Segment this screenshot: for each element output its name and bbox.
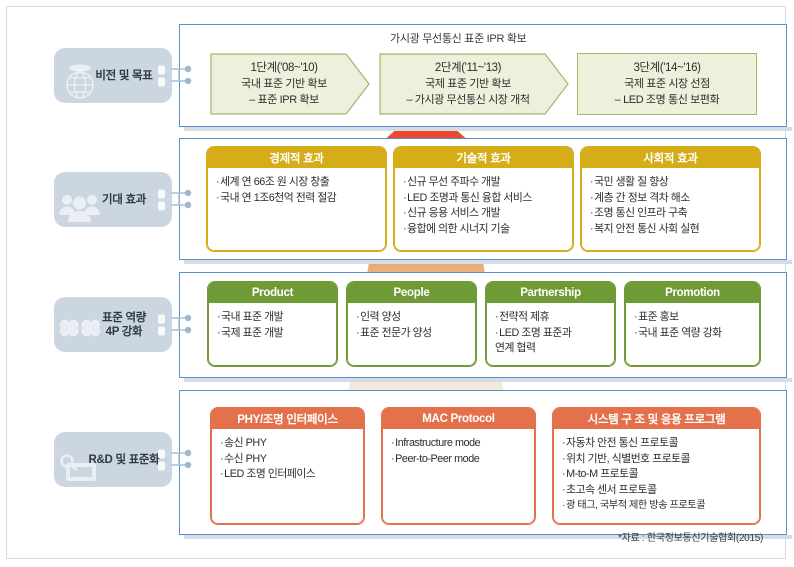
connector-3 (171, 313, 193, 337)
stage-2-line-1: 국제 표준 기반 확보 (425, 76, 511, 92)
card-system-architecture[interactable]: 시스템 구 조 및 응용 프로그램 ·자동차 안전 통신 프로토콜 ·위치 기반… (552, 407, 761, 525)
card-body-technical: ·신규 무선 주파수 개발 ·LED 조명과 통신 융합 서비스 ·신규 응용 … (394, 168, 573, 251)
list-item: ·표준 전문가 양성 (356, 326, 467, 342)
stage-3-title: 3단계('14~'16) (633, 60, 700, 76)
card-economic-effect[interactable]: 경제적 효과 ·세계 연 66조 원 시장 창출 ·국내 연 1조6천억 전력 … (206, 146, 387, 252)
rail-connector-squares-1 (158, 62, 165, 89)
clover-icon (58, 306, 102, 350)
list-item: ·표준 홍보 (634, 310, 751, 326)
connector-4 (171, 448, 193, 472)
card-head-product: Product (208, 282, 337, 303)
list-item: ·국제 표준 개발 (217, 326, 328, 342)
connector-2 (171, 188, 193, 212)
list-item: ·인력 양성 (356, 310, 467, 326)
card-head-system: 시스템 구 조 및 응용 프로그램 (553, 408, 760, 429)
people-group-icon (58, 181, 102, 225)
card-body-partnership: ·전략적 제휴 ·LED 조명 표준과 연계 협력 (486, 303, 615, 366)
panel-shadow-2 (184, 260, 792, 264)
card-partnership[interactable]: Partnership ·전략적 제휴 ·LED 조명 표준과 연계 협력 (485, 281, 616, 367)
research-monitor-icon (58, 441, 102, 485)
source-footnote: *자료 : 한국정보통신기술협회(2015) (618, 529, 763, 544)
card-body-promotion: ·표준 홍보 ·국내 표준 역량 강화 (625, 303, 760, 366)
card-head-partnership: Partnership (486, 282, 615, 303)
card-social-effect[interactable]: 사회적 효과 ·국민 생활 질 향상 ·계층 간 정보 격차 해소 ·조명 통신… (580, 146, 761, 252)
card-people[interactable]: People ·인력 양성 ·표준 전문가 양성 (346, 281, 477, 367)
stage-2-line-2: – 가시광 무선통신 시장 개척 (406, 92, 529, 108)
list-item: ·신규 무선 주파수 개발 (403, 175, 564, 191)
card-body-system: ·자동차 안전 통신 프로토콜 ·위치 기반, 식별번호 프로토콜 ·M-to-… (553, 429, 760, 524)
sidebar-item-vision[interactable]: 비전 및 목표 (54, 48, 172, 103)
list-item: ·국내 연 1조6천억 전력 절감 (216, 191, 377, 207)
card-head-technical: 기술적 효과 (394, 147, 573, 168)
list-item: ·계층 간 정보 격차 해소 (590, 191, 751, 207)
globe-icon (58, 57, 102, 101)
list-item: ·초고속 센서 프로토콜 (562, 483, 751, 499)
rail-connector-squares-3 (158, 311, 165, 338)
sidebar-item-effects[interactable]: 기대 효과 (54, 172, 172, 227)
rail-connector-squares-4 (158, 446, 165, 473)
list-item: ·LED 조명과 통신 융합 서비스 (403, 191, 564, 207)
card-technical-effect[interactable]: 기술적 효과 ·신규 무선 주파수 개발 ·LED 조명과 통신 융합 서비스 … (393, 146, 574, 252)
list-item: ·위치 기반, 식별번호 프로토콜 (562, 452, 751, 468)
card-phy-interface[interactable]: PHY/조명 인터페이스 ·송신 PHY ·수신 PHY ·LED 조명 인터페… (210, 407, 365, 525)
card-head-mac: MAC Protocol (382, 408, 535, 429)
connector-1 (171, 64, 193, 88)
list-item: ·송신 PHY (220, 436, 355, 452)
list-item: ·M-to-M 프로토콜 (562, 467, 751, 483)
card-head-people: People (347, 282, 476, 303)
card-head-economic: 경제적 효과 (207, 147, 386, 168)
card-product[interactable]: Product ·국내 표준 개발 ·국제 표준 개발 (207, 281, 338, 367)
panel-shadow-1 (184, 127, 792, 131)
list-item: ·복지 안전 통신 사회 실현 (590, 222, 751, 238)
list-item: ·Infrastructure mode (391, 436, 526, 452)
rail-connector-squares-2 (158, 186, 165, 213)
list-item: ·수신 PHY (220, 452, 355, 468)
stage-2-title: 2단계('11~'13) (435, 60, 501, 76)
list-item: ·LED 조명 표준과 연계 협력 (495, 326, 606, 357)
list-item: ·LED 조명 인터페이스 (220, 467, 355, 483)
card-promotion[interactable]: Promotion ·표준 홍보 ·국내 표준 역량 강화 (624, 281, 761, 367)
card-body-mac: ·Infrastructure mode ·Peer-to-Peer mode (382, 429, 535, 524)
stage-2[interactable]: 2단계('11~'13) 국제 표준 기반 확보 – 가시광 무선통신 시장 개… (379, 53, 557, 115)
stage-3-line-2: – LED 조명 통신 보편화 (615, 92, 720, 108)
card-body-people: ·인력 양성 ·표준 전문가 양성 (347, 303, 476, 366)
list-item: ·국내 표준 개발 (217, 310, 328, 326)
card-head-promotion: Promotion (625, 282, 760, 303)
stage-3-line-1: 국제 표준 시장 선점 (624, 76, 710, 92)
list-item: ·융합에 의한 시너지 기술 (403, 222, 564, 238)
stage-1-line-2: – 표준 IPR 확보 (249, 92, 319, 108)
list-item: ·세계 연 66조 원 시장 창출 (216, 175, 377, 191)
stage-1-title: 1단계('08~'10) (250, 60, 317, 76)
list-item: ·Peer-to-Peer mode (391, 452, 526, 468)
list-item: ·전략적 제휴 (495, 310, 606, 326)
card-mac-protocol[interactable]: MAC Protocol ·Infrastructure mode ·Peer-… (381, 407, 536, 525)
list-item: ·자동차 안전 통신 프로토콜 (562, 436, 751, 452)
card-body-social: ·국민 생활 질 향상 ·계층 간 정보 격차 해소 ·조명 통신 인프라 구축… (581, 168, 760, 251)
sidebar-item-rnd[interactable]: R&D 및 표준화 (54, 432, 172, 487)
stage-1[interactable]: 1단계('08~'10) 국내 표준 기반 확보 – 표준 IPR 확보 (210, 53, 358, 115)
panel-shadow-3 (184, 378, 792, 382)
stage-3[interactable]: 3단계('14~'16) 국제 표준 시장 선점 – LED 조명 통신 보편화 (577, 53, 757, 115)
card-head-social: 사회적 효과 (581, 147, 760, 168)
card-body-economic: ·세계 연 66조 원 시장 창출 ·국내 연 1조6천억 전력 절감 (207, 168, 386, 251)
list-item: ·광 태그, 국부적 제한 방송 프로토콜 (562, 498, 751, 514)
list-item: ·국내 표준 역량 강화 (634, 326, 751, 342)
card-body-product: ·국내 표준 개발 ·국제 표준 개발 (208, 303, 337, 366)
vision-title: 가시광 무선통신 표준 IPR 확보 (390, 30, 526, 46)
diagram-frame: 비전 및 목표 가시광 무선통신 표준 IPR 확보 1단계('08~'10) … (6, 6, 786, 559)
list-item: ·조명 통신 인프라 구축 (590, 206, 751, 222)
sidebar-item-fourp[interactable]: 표준 역량 4P 강화 (54, 297, 172, 352)
list-item: ·국민 생활 질 향상 (590, 175, 751, 191)
card-body-phy: ·송신 PHY ·수신 PHY ·LED 조명 인터페이스 (211, 429, 364, 524)
stage-1-line-1: 국내 표준 기반 확보 (241, 76, 327, 92)
card-head-phy: PHY/조명 인터페이스 (211, 408, 364, 429)
list-item: ·신규 응용 서비스 개발 (403, 206, 564, 222)
